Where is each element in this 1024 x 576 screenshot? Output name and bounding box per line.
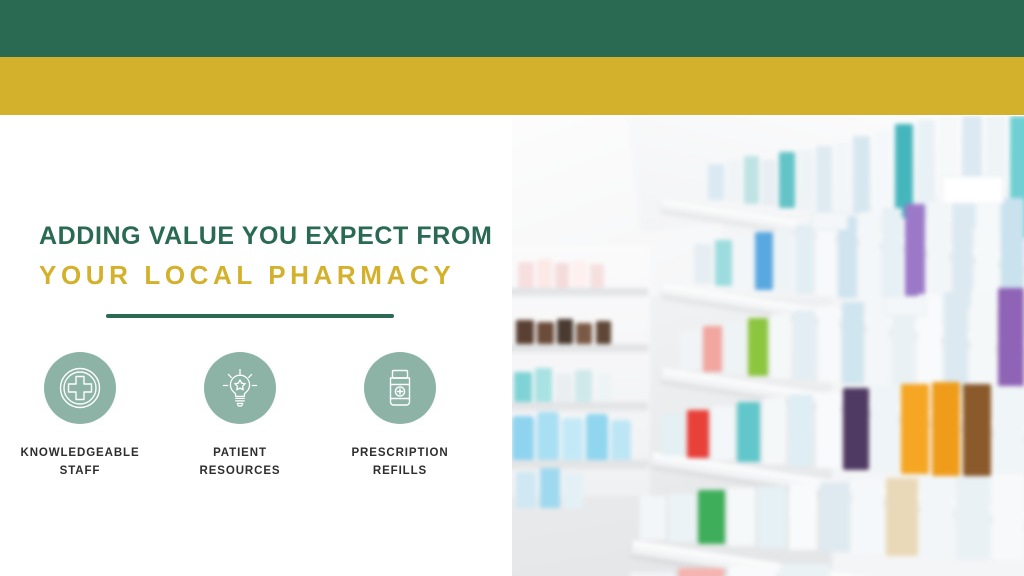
pharmacy-shelves-photo bbox=[512, 116, 1024, 576]
photo-product bbox=[993, 474, 1024, 560]
photo-product bbox=[737, 402, 760, 462]
photo-product bbox=[744, 156, 759, 204]
photo-product bbox=[780, 564, 830, 576]
photo-product bbox=[818, 306, 839, 382]
photo-product bbox=[998, 288, 1024, 396]
feature-icon-circle bbox=[204, 352, 276, 424]
pill-bottle-icon bbox=[378, 366, 422, 410]
photo-product bbox=[794, 310, 815, 380]
photo-product bbox=[928, 202, 949, 306]
photo-product bbox=[687, 410, 709, 458]
photo-product bbox=[748, 318, 768, 376]
photo-product bbox=[678, 568, 724, 576]
photo-product bbox=[575, 370, 592, 402]
headline-line-1: Adding Value You Expect From bbox=[39, 221, 479, 251]
photo-product bbox=[611, 420, 631, 460]
photo-product bbox=[680, 330, 700, 370]
photo-product bbox=[727, 160, 741, 202]
photo-product bbox=[725, 322, 745, 374]
photo-product bbox=[698, 490, 725, 544]
photo-product bbox=[576, 323, 592, 344]
photo-product bbox=[905, 204, 925, 304]
photo-shelf-tag bbox=[812, 212, 848, 230]
photo-left-shelf bbox=[512, 402, 648, 409]
photo-artwork bbox=[512, 116, 1024, 576]
photo-product bbox=[669, 494, 695, 542]
photo-product bbox=[882, 208, 902, 302]
photo-shelf-tag bbox=[884, 296, 926, 316]
photo-product bbox=[835, 142, 850, 212]
photo-product bbox=[817, 220, 835, 296]
photo-product bbox=[630, 572, 674, 576]
photo-product bbox=[540, 468, 560, 508]
feature-list: Knowledgeable Staff bbox=[0, 352, 490, 480]
photo-product bbox=[763, 398, 786, 464]
photo-product bbox=[796, 224, 814, 294]
photo-product bbox=[963, 384, 991, 476]
top-gold-banner-bar bbox=[0, 57, 1024, 115]
photo-product bbox=[715, 240, 732, 286]
photo-product bbox=[537, 322, 554, 344]
photo-product bbox=[843, 388, 869, 470]
photo-product bbox=[901, 384, 929, 474]
photo-product bbox=[789, 484, 817, 550]
photo-product bbox=[562, 418, 583, 460]
photo-product bbox=[556, 374, 572, 402]
photo-product bbox=[703, 326, 722, 372]
feature-label: Prescription Refills bbox=[351, 444, 448, 480]
photo-product bbox=[516, 320, 534, 344]
photo-product bbox=[555, 263, 569, 288]
lightbulb-star-icon bbox=[218, 366, 262, 410]
photo-product bbox=[728, 566, 776, 576]
photo-product bbox=[886, 478, 918, 556]
photo-product bbox=[708, 164, 724, 200]
photo-shelf-tag bbox=[942, 176, 1004, 204]
photo-product bbox=[971, 290, 995, 394]
photo-product bbox=[842, 302, 864, 384]
photo-product bbox=[932, 382, 960, 476]
photo-product bbox=[590, 264, 604, 288]
feature-icon-circle bbox=[44, 352, 116, 424]
photo-product bbox=[872, 386, 898, 472]
photo-product bbox=[956, 476, 990, 560]
photo-product bbox=[874, 130, 891, 216]
headline-line-2: Your Local Pharmacy bbox=[39, 259, 479, 291]
top-green-banner-bar bbox=[0, 0, 1024, 57]
photo-product bbox=[758, 486, 786, 548]
photo-product bbox=[662, 414, 684, 456]
feature-item-knowledgeable-staff: Knowledgeable Staff bbox=[0, 352, 160, 480]
photo-left-shelf bbox=[512, 288, 648, 295]
photo-product bbox=[776, 228, 793, 292]
photo-product bbox=[572, 261, 587, 288]
photo-product bbox=[816, 392, 840, 468]
photo-left-shelf bbox=[512, 460, 648, 467]
feature-label: Knowledgeable Staff bbox=[20, 444, 139, 480]
photo-product bbox=[762, 160, 776, 206]
photo-product bbox=[557, 319, 573, 344]
photo-product bbox=[512, 416, 534, 460]
photo-product bbox=[853, 480, 883, 554]
photo-product bbox=[564, 473, 583, 508]
photo-product bbox=[820, 482, 850, 552]
photo-product bbox=[514, 372, 532, 402]
photo-product bbox=[789, 394, 813, 466]
photo-product bbox=[728, 488, 755, 546]
medical-cross-circle-icon bbox=[58, 366, 102, 410]
photo-product bbox=[771, 314, 791, 378]
feature-icon-circle bbox=[364, 352, 436, 424]
photo-product bbox=[853, 136, 870, 214]
photo-product bbox=[735, 236, 752, 288]
headline-divider bbox=[106, 314, 394, 318]
feature-item-prescription-refills: Prescription Refills bbox=[320, 352, 480, 480]
photo-product bbox=[597, 373, 612, 402]
photo-product bbox=[712, 406, 734, 460]
photo-product bbox=[537, 259, 552, 288]
photo-product bbox=[694, 244, 712, 284]
photo-product bbox=[779, 152, 795, 208]
slide-canvas: Adding Value You Expect From Your Local … bbox=[0, 0, 1024, 576]
photo-product bbox=[921, 476, 953, 558]
photo-product bbox=[516, 472, 536, 508]
photo-product bbox=[535, 368, 552, 402]
photo-product bbox=[755, 232, 773, 290]
photo-product bbox=[944, 292, 968, 392]
photo-product bbox=[798, 150, 813, 210]
photo-product bbox=[586, 414, 608, 460]
photo-product bbox=[816, 146, 832, 212]
photo-product bbox=[518, 262, 534, 288]
photo-product bbox=[596, 321, 611, 344]
photo-product bbox=[537, 412, 559, 460]
photo-product bbox=[860, 212, 879, 300]
photo-left-shelf bbox=[512, 344, 648, 351]
feature-item-patient-resources: Patient Resources bbox=[160, 352, 320, 480]
feature-label: Patient Resources bbox=[200, 444, 281, 480]
photo-product bbox=[640, 496, 666, 540]
photo-product bbox=[994, 386, 1024, 476]
